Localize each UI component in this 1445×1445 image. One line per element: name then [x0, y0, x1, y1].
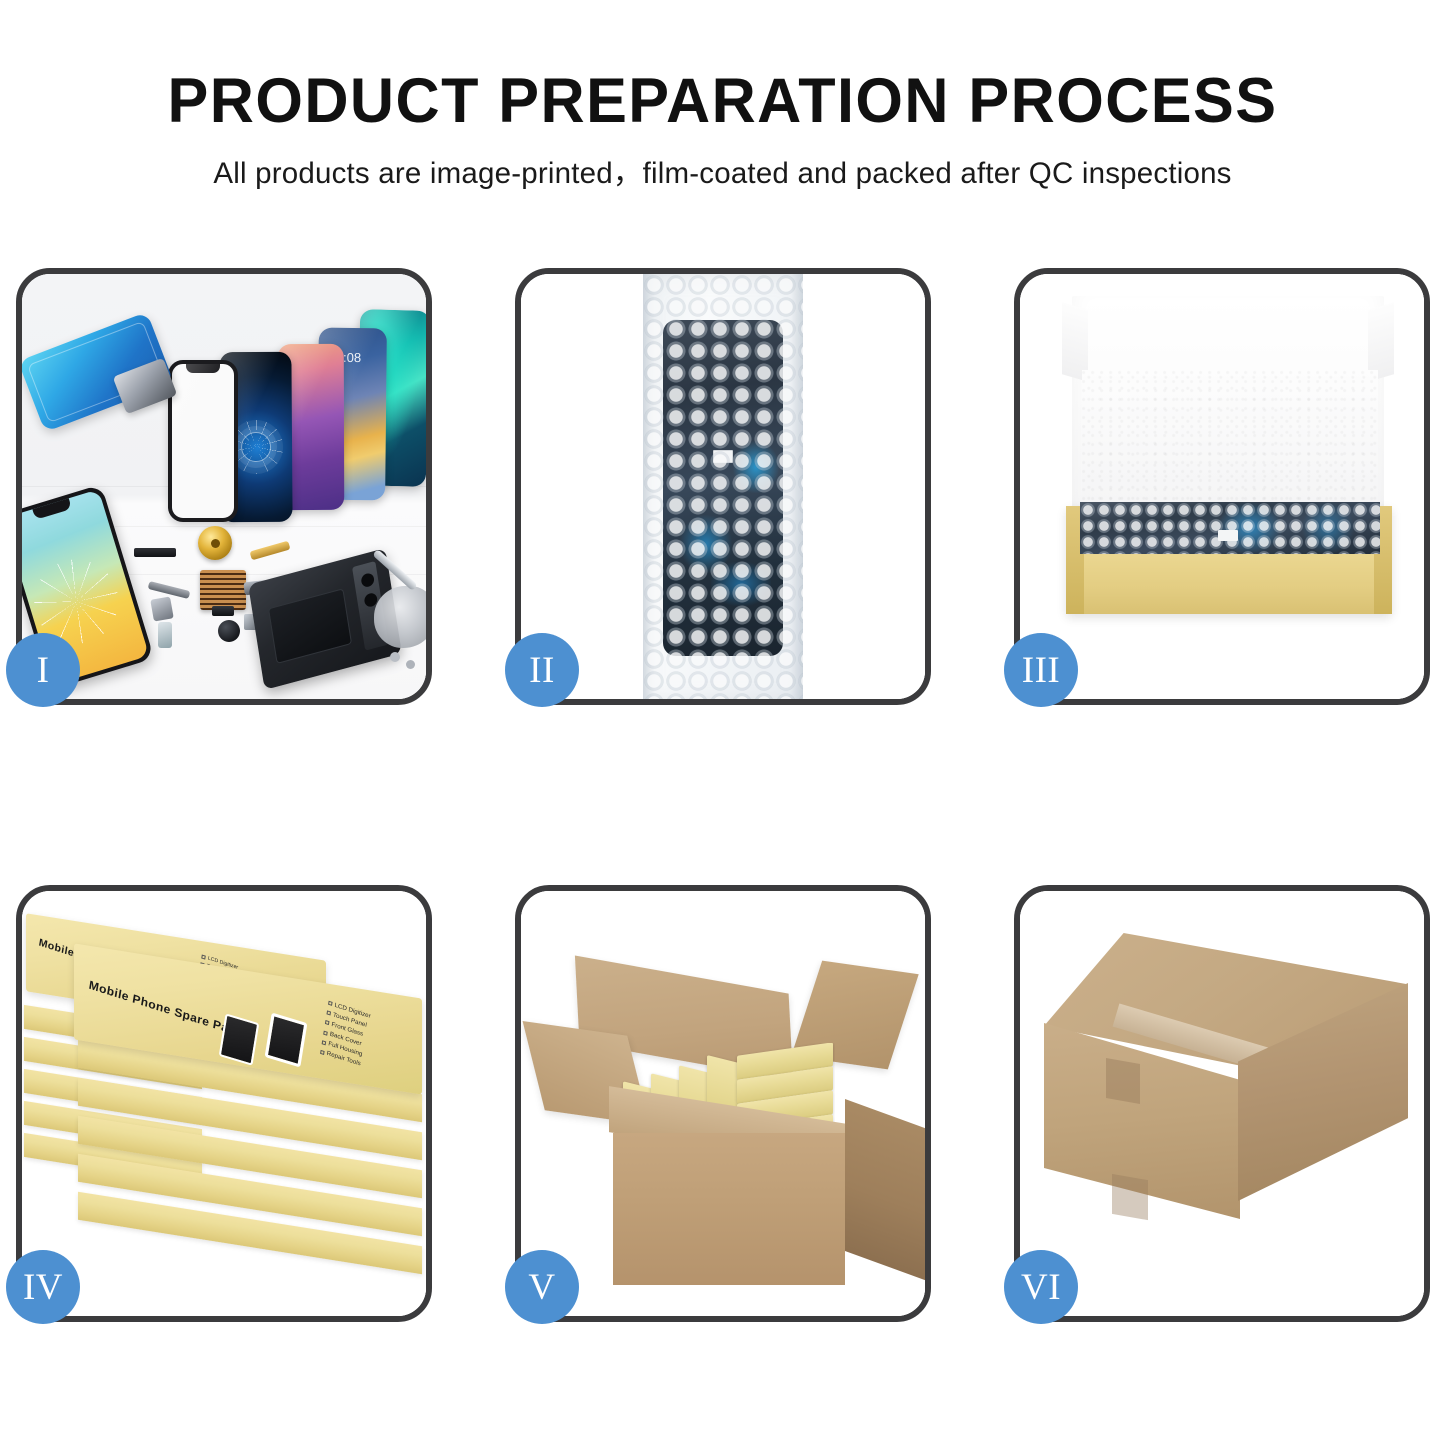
- page-subtitle: All products are image-printed，film-coat…: [0, 150, 1445, 192]
- process-step-panel-2: II: [515, 268, 931, 705]
- step-badge-2: II: [505, 633, 579, 707]
- notch: [186, 364, 220, 373]
- step-2-image: [521, 274, 925, 699]
- box-checklist: LCD Digitizer Touch Panel Front Glass Ba…: [320, 999, 372, 1070]
- step-badge-5: V: [505, 1250, 579, 1324]
- bubble-wrap-bag: [643, 274, 803, 699]
- process-step-panel-1: 08:08: [16, 268, 432, 705]
- mesh-grille-part: [200, 570, 246, 610]
- flex-cable-part: [150, 596, 174, 621]
- sim-tray-part: [158, 622, 172, 648]
- bubble-texture: [643, 274, 803, 699]
- process-step-panel-4: Mobile Phone Spare Parts LCD Digitizer T…: [16, 885, 432, 1322]
- carton-front-face: [613, 1133, 845, 1285]
- battery: [268, 588, 352, 664]
- part-label-sticker: [1218, 530, 1238, 541]
- process-step-panel-5: V: [515, 885, 931, 1322]
- packed-bubble-wrapped-parts: [1080, 502, 1380, 554]
- step-badge-1: I: [6, 633, 80, 707]
- screw-part: [390, 652, 400, 662]
- camera-module-part: [218, 620, 240, 642]
- step-numeral: IV: [23, 1266, 63, 1309]
- step-badge-3: III: [1004, 633, 1078, 707]
- box-screen-graphic: [219, 1013, 260, 1065]
- box-screen-graphic: [265, 1013, 308, 1068]
- step-numeral: II: [529, 649, 555, 692]
- step-1-image: 08:08: [22, 274, 426, 699]
- tape-tab: [1106, 1058, 1140, 1104]
- process-step-grid: 08:08: [16, 268, 1430, 1313]
- bubble-texture: [1080, 502, 1380, 554]
- step-numeral: V: [528, 1266, 555, 1309]
- step-3-image: [1020, 274, 1424, 699]
- step-5-image: [521, 891, 925, 1316]
- step-4-image: Mobile Phone Spare Parts LCD Digitizer T…: [22, 891, 426, 1316]
- earpiece-speaker-part: [134, 548, 176, 557]
- page-title: PRODUCT PREPARATION PROCESS: [22, 68, 1424, 134]
- chip-part: [212, 606, 234, 616]
- step-badge-6: VI: [1004, 1250, 1078, 1324]
- header: PRODUCT PREPARATION PROCESS All products…: [0, 68, 1445, 192]
- front-glass-panel: [168, 360, 238, 522]
- step-6-image: [1020, 891, 1424, 1316]
- repair-tool-brush: [374, 586, 426, 648]
- step-numeral: VI: [1021, 1266, 1061, 1309]
- product-preparation-infographic: PRODUCT PREPARATION PROCESS All products…: [0, 0, 1445, 1445]
- crack-rings: [241, 432, 271, 462]
- step-numeral: I: [37, 649, 50, 692]
- foam-liner: [1082, 370, 1378, 518]
- screw-part: [406, 660, 415, 669]
- process-step-panel-3: III: [1014, 268, 1430, 705]
- step-numeral: III: [1022, 649, 1060, 692]
- vibration-motor-part: [198, 526, 232, 560]
- process-step-panel-6: VI: [1014, 885, 1430, 1322]
- tape-tab: [1112, 1174, 1148, 1220]
- step-badge-4: IV: [6, 1250, 80, 1324]
